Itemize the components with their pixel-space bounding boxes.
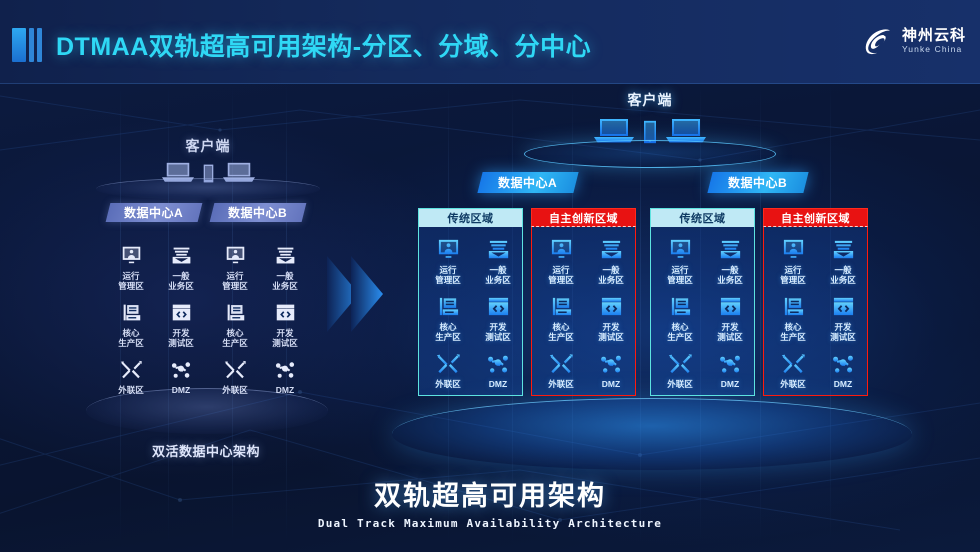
network-nodes-icon (586, 350, 636, 376)
legacy-client-platform (96, 178, 320, 200)
zone-item: 外联区 (106, 356, 156, 395)
dtmaa-dc-b-badge-label: 数据中心B (728, 174, 787, 191)
zone-label: 运行 管理区 (655, 265, 705, 285)
server-doc-icon (536, 293, 586, 319)
branch-arrows-icon (536, 350, 586, 376)
zone-item: 核心 生产区 (210, 299, 260, 348)
zone-label: 开发 测试区 (586, 322, 636, 342)
dtmaa-dc-a-badge-label: 数据中心A (498, 174, 557, 191)
zone-label: 运行 管理区 (423, 265, 473, 285)
zone-label: 开发 测试区 (818, 322, 868, 342)
double-chevron-right-icon (325, 252, 395, 341)
branch-arrows-icon (423, 350, 473, 376)
zone-item: 一般 业务区 (156, 242, 206, 291)
legacy-client-label: 客户端 (128, 136, 288, 156)
zone-label: DMZ (705, 379, 755, 389)
dtmaa-base-platform (392, 398, 912, 470)
legacy-dc-a-badge: 数据中心A (106, 203, 203, 222)
zone-item: 核心 生产区 (423, 293, 473, 342)
server-doc-icon (210, 299, 260, 325)
swirl-logo-icon (861, 24, 895, 58)
network-nodes-icon (260, 356, 310, 382)
zone-label: 开发 测试区 (473, 322, 523, 342)
zone-item: DMZ (473, 350, 523, 389)
monitor-user-icon (106, 242, 156, 268)
server-doc-icon (655, 293, 705, 319)
zone-item: 核心 生产区 (536, 293, 586, 342)
zone-label: 一般 业务区 (586, 265, 636, 285)
server-doc-icon (768, 293, 818, 319)
zone-label: 核心 生产区 (768, 322, 818, 342)
zone-label: 运行 管理区 (768, 265, 818, 285)
zone-label: 外联区 (106, 385, 156, 395)
dc-b-traditional-title: 传统区域 (650, 208, 755, 227)
network-nodes-icon (156, 356, 206, 382)
zone-item: 运行 管理区 (536, 236, 586, 285)
inbox-tray-icon (818, 236, 868, 262)
zone-item: 一般 业务区 (586, 236, 636, 285)
zone-item: 运行 管理区 (423, 236, 473, 285)
inbox-tray-icon (586, 236, 636, 262)
legacy-client-group: 客户端 (128, 136, 288, 183)
zone-item: 核心 生产区 (106, 299, 156, 348)
dc-b-traditional-panel: 传统区域 运行 管理区 一般 业务区 核心 生产区 (650, 208, 755, 396)
legacy-dc-b-zones: 运行 管理区 一般 业务区 核心 生产区 开发 测试区 外联区 DMZ (210, 242, 306, 395)
zone-item: 核心 生产区 (655, 293, 705, 342)
zone-label: 核心 生产区 (536, 322, 586, 342)
dtmaa-client-group: 客户端 (560, 90, 740, 144)
zone-label: 外联区 (655, 379, 705, 389)
dc-a-innovation-panel: 自主创新区域 运行 管理区 一般 业务区 核心 生产区 (531, 208, 636, 396)
legacy-dc-a-badge-label: 数据中心A (124, 204, 183, 221)
zone-label: 一般 业务区 (156, 271, 206, 291)
zone-item: 外联区 (536, 350, 586, 389)
zone-item: 一般 业务区 (818, 236, 868, 285)
zone-label: 核心 生产区 (655, 322, 705, 342)
zone-item: DMZ (260, 356, 310, 395)
logo-text-en: Yunke China (902, 45, 966, 54)
zone-label: 运行 管理区 (106, 271, 156, 291)
zone-item: DMZ (705, 350, 755, 389)
zone-item: 外联区 (423, 350, 473, 389)
brand-logo: 神州云科 Yunke China (861, 24, 966, 58)
code-window-icon (586, 293, 636, 319)
dc-b-innovation-title: 自主创新区域 (763, 208, 868, 227)
zone-item: 开发 测试区 (705, 293, 755, 342)
code-window-icon (473, 293, 523, 319)
monitor-user-icon (210, 242, 260, 268)
zone-label: 开发 测试区 (156, 328, 206, 348)
dtmaa-caption: 双轨超高可用架构 Dual Track Maximum Availability… (0, 474, 980, 530)
zone-label: 一般 业务区 (705, 265, 755, 285)
zone-item: 开发 测试区 (473, 293, 523, 342)
zone-item: 开发 测试区 (818, 293, 868, 342)
dtmaa-caption-en: Dual Track Maximum Availability Architec… (0, 517, 980, 530)
zone-label: DMZ (156, 385, 206, 395)
network-nodes-icon (818, 350, 868, 376)
dtmaa-dc-a-badge: 数据中心A (477, 172, 578, 193)
zone-label: DMZ (260, 385, 310, 395)
dc-a-traditional-title: 传统区域 (418, 208, 523, 227)
zone-item: 运行 管理区 (655, 236, 705, 285)
dc-a-traditional-panel: 传统区域 运行 管理区 一般 业务区 核心 生产区 (418, 208, 523, 396)
zone-label: 一般 业务区 (818, 265, 868, 285)
zone-item: 外联区 (768, 350, 818, 389)
zone-item: 开发 测试区 (586, 293, 636, 342)
zone-item: 开发 测试区 (260, 299, 310, 348)
dc-b-innovation-panel: 自主创新区域 运行 管理区 一般 业务区 核心 生产区 (763, 208, 868, 396)
slide-header: DTMAA双轨超高可用架构-分区、分域、分中心 神州云科 Yunke China (0, 0, 980, 84)
dtmaa-client-label: 客户端 (560, 90, 740, 110)
monitor-user-icon (423, 236, 473, 262)
inbox-tray-icon (705, 236, 755, 262)
dtmaa-client-platform (524, 140, 776, 168)
legacy-dc-a-zones: 运行 管理区 一般 业务区 核心 生产区 开发 测试区 外联区 DMZ (106, 242, 202, 395)
zone-label: 外联区 (423, 379, 473, 389)
zone-label: 开发 测试区 (260, 328, 310, 348)
zone-item: 一般 业务区 (473, 236, 523, 285)
zone-label: 运行 管理区 (210, 271, 260, 291)
legacy-caption: 双活数据中心架构 (106, 441, 306, 460)
monitor-user-icon (536, 236, 586, 262)
zone-item: 开发 测试区 (156, 299, 206, 348)
dtmaa-dc-b-badge: 数据中心B (707, 172, 808, 193)
zone-label: DMZ (818, 379, 868, 389)
zone-item: 一般 业务区 (260, 242, 310, 291)
legacy-dc-b-badge-label: 数据中心B (228, 204, 287, 221)
zone-label: DMZ (586, 379, 636, 389)
monitor-user-icon (655, 236, 705, 262)
dtmaa-caption-cn: 双轨超高可用架构 (0, 474, 980, 513)
code-window-icon (156, 299, 206, 325)
zone-item: DMZ (156, 356, 206, 395)
logo-text-cn: 神州云科 (902, 28, 966, 44)
legacy-dc-b-badge: 数据中心B (210, 203, 307, 222)
dc-a-innovation-title: 自主创新区域 (531, 208, 636, 227)
inbox-tray-icon (156, 242, 206, 268)
zone-item: 外联区 (655, 350, 705, 389)
zone-label: 运行 管理区 (536, 265, 586, 285)
zone-item: 运行 管理区 (768, 236, 818, 285)
zone-label: 核心 生产区 (210, 328, 260, 348)
zone-label: 核心 生产区 (106, 328, 156, 348)
zone-item: 运行 管理区 (106, 242, 156, 291)
zone-label: 外联区 (768, 379, 818, 389)
zone-label: 一般 业务区 (260, 271, 310, 291)
server-doc-icon (423, 293, 473, 319)
zone-label: 外联区 (536, 379, 586, 389)
branch-arrows-icon (210, 356, 260, 382)
zone-item: 外联区 (210, 356, 260, 395)
branch-arrows-icon (655, 350, 705, 376)
network-nodes-icon (473, 350, 523, 376)
inbox-tray-icon (473, 236, 523, 262)
zone-label: 开发 测试区 (705, 322, 755, 342)
zone-item: 一般 业务区 (705, 236, 755, 285)
zone-label: 外联区 (210, 385, 260, 395)
zone-item: DMZ (818, 350, 868, 389)
network-nodes-icon (705, 350, 755, 376)
inbox-tray-icon (260, 242, 310, 268)
branch-arrows-icon (768, 350, 818, 376)
branch-arrows-icon (106, 356, 156, 382)
monitor-user-icon (768, 236, 818, 262)
server-doc-icon (106, 299, 156, 325)
zone-label: 核心 生产区 (423, 322, 473, 342)
zone-item: 核心 生产区 (768, 293, 818, 342)
code-window-icon (705, 293, 755, 319)
zone-item: DMZ (586, 350, 636, 389)
code-window-icon (260, 299, 310, 325)
slide-canvas: DTMAA双轨超高可用架构-分区、分域、分中心 神州云科 Yunke China… (0, 0, 980, 552)
zone-item: 运行 管理区 (210, 242, 260, 291)
zone-label: 一般 业务区 (473, 265, 523, 285)
page-title: DTMAA双轨超高可用架构-分区、分域、分中心 (56, 27, 591, 63)
zone-label: DMZ (473, 379, 523, 389)
code-window-icon (818, 293, 868, 319)
header-accent-bars-icon (12, 28, 42, 62)
